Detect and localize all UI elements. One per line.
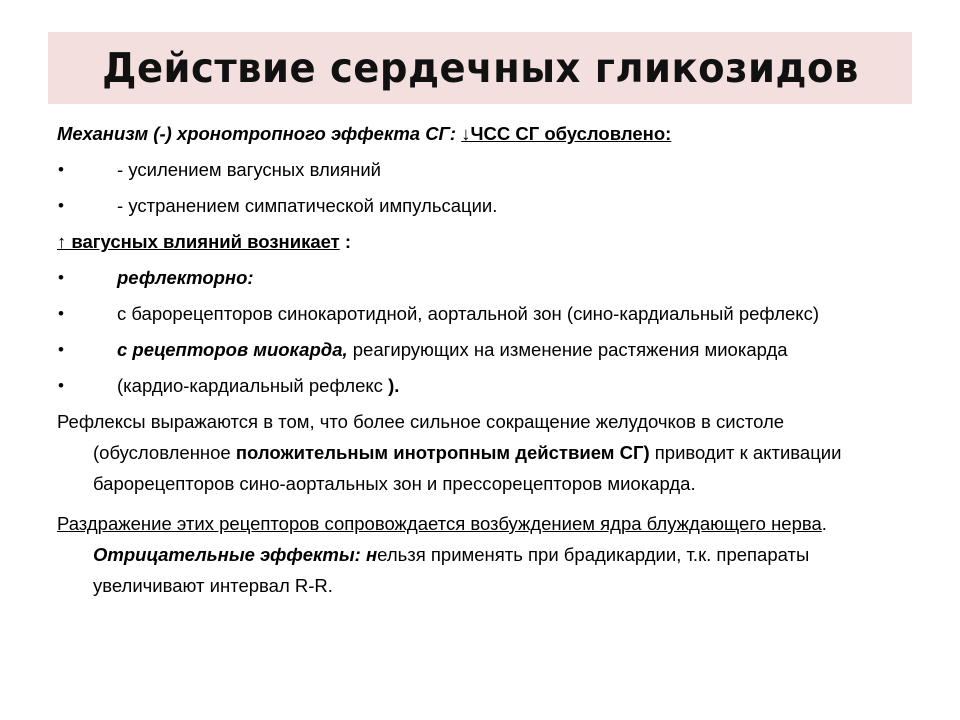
list-item-label: (кардио-кардиальный рефлекс ). — [93, 375, 399, 396]
slide: Действие сердечных гликозидов Механизм (… — [0, 0, 960, 720]
irritation-paragraph: Раздражение этих рецепторов сопровождает… — [0, 508, 960, 539]
list-item-label: с барорецепторов синокаротидной, аорталь… — [93, 303, 819, 324]
mechanism-heading-italic: Механизм (-) хронотропного эффекта СГ: — [57, 123, 456, 144]
mechanism-heading-line: Механизм (-) хронотропного эффекта СГ: ↓… — [0, 118, 960, 149]
bullet-dot-icon: • — [58, 370, 64, 401]
list-item: • (кардио-кардиальный рефлекс ). — [0, 370, 960, 401]
irritation-paragraph-tail: . — [822, 513, 827, 534]
vagus-heading-underlined: ↑ вагусных влияний возникает — [57, 231, 340, 252]
list-item-label: рефлекторно: — [93, 267, 254, 288]
spacer — [0, 499, 960, 508]
negative-effects-label: Отрицательные эффекты: н — [93, 544, 377, 565]
mechanism-heading-underlined: ↓ЧСС СГ обусловлено: — [461, 123, 671, 144]
bullet-dot-icon: • — [58, 262, 64, 293]
page-title: Действие сердечных гликозидов — [102, 48, 859, 89]
list-item: • - усилением вагусных влияний — [0, 154, 960, 185]
vagus-heading-line: ↑ вагусных влияний возникает : — [0, 226, 960, 257]
bullet-dot-icon: • — [58, 154, 64, 185]
list-item: • с рецепторов миокарда, реагирующих на … — [0, 334, 960, 365]
vagus-heading-tail: : — [340, 231, 351, 252]
irritation-paragraph-underlined: Раздражение этих рецепторов сопровождает… — [57, 513, 822, 534]
slide-body: Механизм (-) хронотропного эффекта СГ: ↓… — [0, 118, 960, 601]
list-item: • рефлекторно: — [0, 262, 960, 293]
reflex-paragraph: Рефлексы выражаются в том, что более сил… — [0, 406, 960, 499]
reflex-paragraph-bold: положительным инотропным действием СГ) — [236, 442, 650, 463]
bullet-dot-icon: • — [58, 190, 64, 221]
list-item-label: - усилением вагусных влияний — [93, 159, 381, 180]
title-banner: Действие сердечных гликозидов — [48, 32, 912, 104]
list-item-label: - устранением симпатической импульсации. — [93, 195, 497, 216]
list-item: • с барорецепторов синокаротидной, аорта… — [0, 298, 960, 329]
bullet-dot-icon: • — [58, 334, 64, 365]
negative-effects-paragraph: Отрицательные эффекты: нельзя применять … — [0, 539, 960, 601]
bullet-dot-icon: • — [58, 298, 64, 329]
list-item: • - устранением симпатической импульсаци… — [0, 190, 960, 221]
list-item-label: с рецепторов миокарда, реагирующих на из… — [93, 339, 788, 360]
